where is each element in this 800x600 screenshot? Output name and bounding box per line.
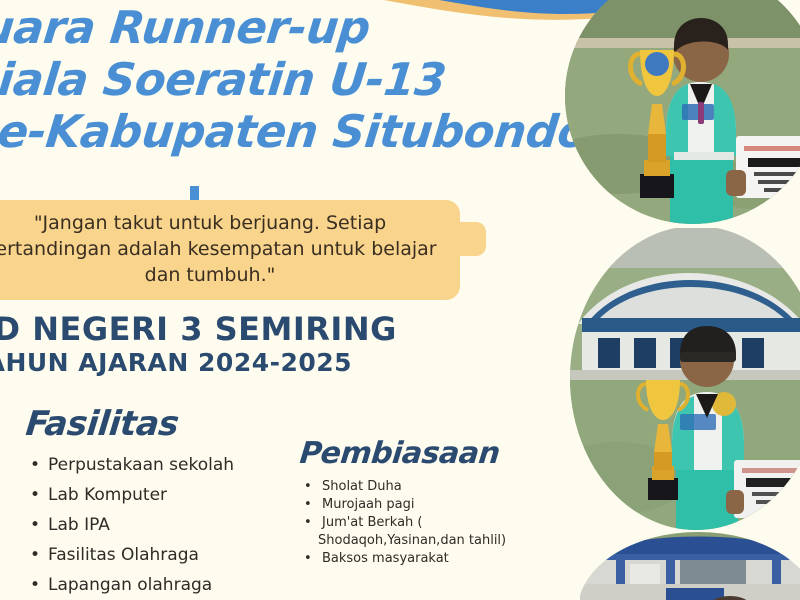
photo-school-court	[580, 524, 800, 600]
fasilitas-section: Fasilitas Perpustakaan sekolah Lab Kompu…	[26, 404, 296, 600]
pembiasaan-list: Sholat Duha Murojaah pagi Jum'at Berkah …	[300, 478, 550, 568]
list-item: Lab Komputer	[26, 480, 296, 510]
quote-banner: "Jangan takut untuk berjuang. Setiap per…	[0, 200, 460, 300]
list-item: Lapangan olahraga	[26, 570, 296, 600]
poster-canvas: Juara Runner-up Piala Soeratin U-13 Se-K…	[0, 0, 800, 600]
pembiasaan-section: Pembiasaan Sholat Duha Murojaah pagi Jum…	[300, 436, 550, 568]
headline: Juara Runner-up Piala Soeratin U-13 Se-K…	[0, 2, 586, 158]
headline-line-3: Se-Kabupaten Situbondo	[0, 106, 589, 158]
quote-box: "Jangan takut untuk berjuang. Setiap per…	[0, 200, 460, 300]
list-item: Jum'at Berkah (	[300, 514, 550, 532]
fasilitas-list: Perpustakaan sekolah Lab Komputer Lab IP…	[26, 450, 296, 600]
list-item: Murojaah pagi	[300, 496, 550, 514]
list-item: Fasilitas Olahraga	[26, 540, 296, 570]
list-item: Lab IPA	[26, 510, 296, 540]
pembiasaan-heading: Pembiasaan	[298, 436, 552, 472]
school-name: SD NEGERI 3 SEMIRING	[0, 312, 490, 346]
list-item: Sholat Duha	[300, 478, 550, 496]
school-identity: SD NEGERI 3 SEMIRING TAHUN AJARAN 2024-2…	[0, 312, 490, 378]
photo-student-with-cap	[568, 228, 800, 534]
fasilitas-heading: Fasilitas	[24, 404, 298, 444]
photo-student-with-trophy	[548, 0, 800, 226]
school-academic-year: TAHUN AJARAN 2024-2025	[0, 348, 490, 378]
quote-text: "Jangan takut untuk berjuang. Setiap per…	[0, 210, 444, 288]
headline-line-1: Juara Runner-up	[0, 2, 589, 54]
list-item: Baksos masyarakat	[300, 550, 550, 568]
list-item: Perpustakaan sekolah	[26, 450, 296, 480]
headline-line-2: Piala Soeratin U-13	[0, 54, 589, 106]
list-item-continuation: Shodaqoh,Yasinan,dan tahlil)	[300, 532, 550, 550]
